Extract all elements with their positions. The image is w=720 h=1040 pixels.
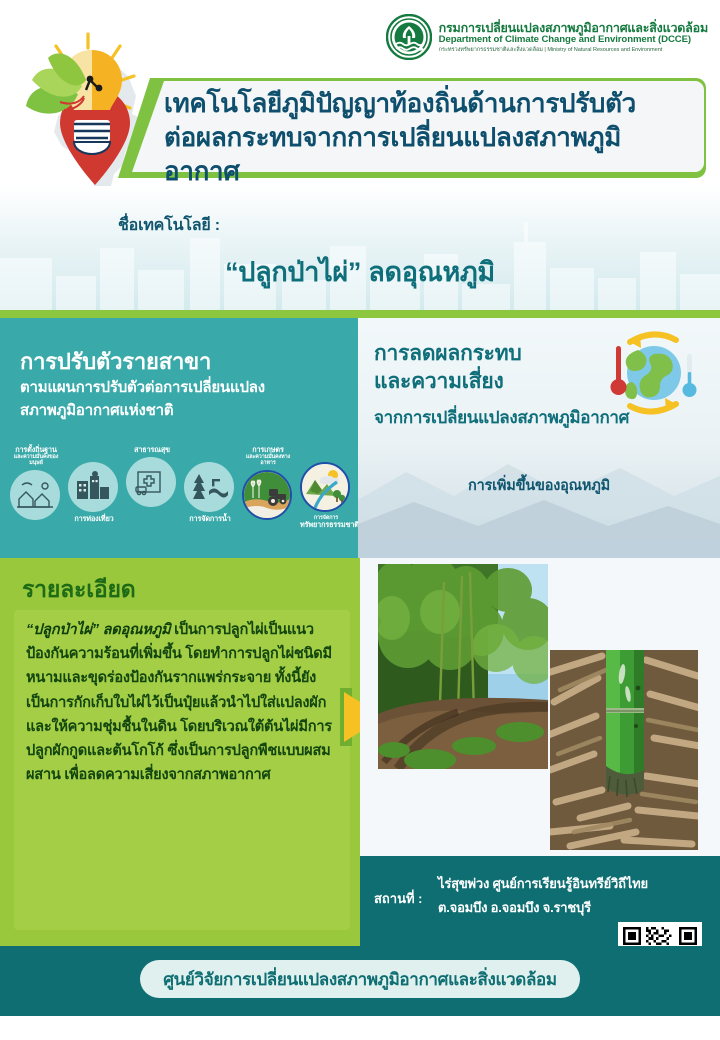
natural-resources-mountain-icon	[300, 462, 350, 512]
blue-thermometer-icon	[683, 354, 697, 397]
org-name-en: Department of Climate Change and Environ…	[439, 35, 708, 46]
sector-label: การตั้งถิ่นฐาน	[15, 445, 57, 454]
settlement-houses-icon	[10, 470, 60, 520]
technology-name-band: ชื่อเทคโนโลยี : “ปลูกป่าไผ่” ลดอุณหภูมิ	[0, 186, 720, 318]
details-heading: รายละเอียด	[22, 572, 135, 608]
adaptation-panel: การปรับตัวรายสาขา ตามแผนการปรับตัวต่อการ…	[0, 318, 358, 558]
sector-caption-tourism: การท่องเที่ยว	[68, 515, 120, 523]
sector-icon-row: การตั้งถิ่นฐาน และความมั่นคงของมนุษย์	[6, 446, 356, 551]
sector-caption-water: การจัดการน้ำ	[184, 515, 236, 523]
bamboo-culm-mulch-photo	[550, 650, 698, 850]
org-name-th: กรมการเปลี่ยนแปลงสภาพภูมิอากาศและสิ่งแวด…	[439, 21, 708, 35]
details-text: “ปลูกป่าไผ่” ลดอุณหภูมิ เป็นการปลูกไผ่เป…	[14, 610, 350, 930]
sector-label: สาธารณสุข	[134, 445, 170, 454]
sector-sublabel: และความมั่นคงทางอาหาร	[242, 454, 294, 466]
sector-item-natural-resources[interactable]: การจัดการ ทรัพยากรธรรมชาติ	[300, 462, 352, 529]
adaptation-subheading-line2: สภาพภูมิอากาศแห่งชาติ	[20, 402, 173, 419]
mitigation-heading-line1: การลดผลกระทบ	[374, 342, 522, 365]
public-health-hospital-icon	[126, 457, 176, 507]
globe-thermometer-icon	[596, 324, 708, 424]
footer-organization: ศูนย์วิจัยการเปลี่ยนแปลงสภาพภูมิอากาศและ…	[140, 960, 580, 998]
bamboo-grove-trench-photo	[378, 564, 548, 769]
technology-name: “ปลูกป่าไผ่” ลดอุณหภูมิ	[0, 250, 720, 293]
sector-item-tourism[interactable]: การท่องเที่ยว	[68, 462, 120, 523]
mitigation-heading: การลดผลกระทบ และความเสี่ยง	[374, 340, 522, 395]
mountain-backdrop-icon	[358, 438, 720, 558]
poster-footer: ศูนย์วิจัยการเปลี่ยนแปลงสภาพภูมิอากาศและ…	[0, 946, 720, 1016]
org-ministry: กระทรวงทรัพยากรธรรมชาติและสิ่งแวดล้อม | …	[439, 47, 708, 53]
details-lead: “ปลูกป่าไผ่” ลดอุณหภูมิ	[26, 622, 170, 638]
adaptation-subheading: ตามแผนการปรับตัวต่อการเปลี่ยนแปลง สภาพภู…	[20, 376, 350, 423]
poster-header: กรมการเปลี่ยนแปลงสภาพภูมิอากาศและสิ่งแวด…	[0, 0, 720, 195]
page-title-line2: ต่อผลกระทบจากการเปลี่ยนแปลงสภาพภูมิอากาศ	[164, 121, 694, 189]
photo-gallery	[360, 558, 720, 856]
mitigation-heading-line2: และความเสี่ยง	[374, 370, 504, 393]
sector-caption-agriculture: การเกษตร และความมั่นคงทางอาหาร	[242, 446, 294, 467]
sector-label: การจัดการน้ำ	[189, 514, 230, 523]
sector-caption-natural-resources: การจัดการ ทรัพยากรธรรมชาติ	[300, 515, 352, 529]
sector-sublabel: และความมั่นคงของมนุษย์	[10, 454, 62, 466]
sector-caption-public-health: สาธารณสุข	[126, 446, 178, 454]
location-line2: ต.จอมบึง อ.จอมบึง จ.ราชบุรี	[438, 900, 591, 915]
footer-bottom-strip	[0, 1016, 720, 1040]
sector-item-agriculture[interactable]: การเกษตร และความมั่นคงทางอาหาร	[242, 446, 294, 520]
adaptation-heading: การปรับตัวรายสาขา	[20, 344, 211, 379]
location-line1: ไร่สุขพ่วง ศูนย์การเรียนรู้อินทรีย์วิถีไ…	[438, 876, 648, 891]
page-title: เทคโนโลยีภูมิปัญญาท้องถิ่นด้านการปรับตัว…	[164, 87, 694, 188]
adaptation-subheading-line1: ตามแผนการปรับตัวต่อการเปลี่ยนแปลง	[20, 379, 265, 396]
sector-item-settlement[interactable]: การตั้งถิ่นฐาน และความมั่นคงของมนุษย์	[10, 446, 62, 520]
details-panel: รายละเอียด “ปลูกป่าไผ่” ลดอุณหภูมิ เป็นก…	[0, 558, 360, 946]
sector-item-water[interactable]: การจัดการน้ำ	[184, 462, 236, 523]
sector-label: การเกษตร	[252, 445, 284, 454]
dcce-seal-icon	[386, 14, 432, 60]
page-title-line1: เทคโนโลยีภูมิปัญญาท้องถิ่นด้านการปรับตัว	[164, 88, 636, 118]
red-thermometer-icon	[611, 346, 627, 395]
location-label: สถานที่ :	[374, 888, 423, 909]
location-value: ไร่สุขพ่วง ศูนย์การเรียนรู้อินทรีย์วิถีไ…	[438, 872, 713, 920]
sector-label: การท่องเที่ยว	[74, 514, 113, 523]
sector-item-public-health[interactable]: สาธารณสุข	[126, 446, 178, 507]
sector-sublabel: ทรัพยากรธรรมชาติ	[300, 520, 358, 529]
title-ribbon: เทคโนโลยีภูมิปัญญาท้องถิ่นด้านการปรับตัว…	[118, 78, 706, 178]
technology-label: ชื่อเทคโนโลยี :	[118, 213, 220, 238]
dcce-logo: กรมการเปลี่ยนแปลงสภาพภูมิอากาศและสิ่งแวด…	[386, 14, 708, 60]
tourism-city-bus-icon	[68, 462, 118, 512]
agriculture-tractor-icon	[242, 470, 292, 520]
mitigation-risk-item: การเพิ่มขึ้นของอุณหภูมิ	[358, 474, 720, 497]
water-management-tap-icon	[184, 462, 234, 512]
details-body-text: เป็นการปลูกไผ่เป็นแนวป้องกันความร้อนที่เ…	[26, 622, 332, 783]
poster-root: กรมการเปลี่ยนแปลงสภาพภูมิอากาศและสิ่งแวด…	[0, 0, 720, 1040]
mitigation-panel: การลดผลกระทบ และความเสี่ยง จากการเปลี่ยน…	[358, 318, 720, 558]
sector-caption-settlement: การตั้งถิ่นฐาน และความมั่นคงของมนุษย์	[10, 446, 62, 467]
section-divider	[0, 310, 720, 318]
